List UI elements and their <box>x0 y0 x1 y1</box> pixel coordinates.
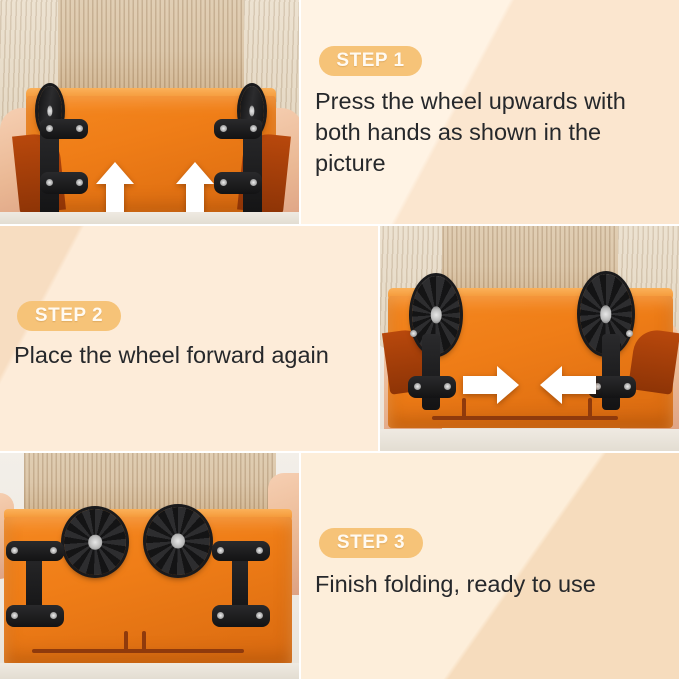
person-torso <box>56 0 246 98</box>
arrow-left-inward-icon <box>540 366 596 404</box>
screw-left-2 <box>50 547 57 554</box>
photo-floor <box>0 212 299 224</box>
step-3-photo <box>0 453 299 679</box>
step-2-photo <box>380 226 679 451</box>
arrow-right-inward-icon <box>463 366 519 404</box>
step-1-badge: STEP 1 <box>319 46 422 76</box>
screw-left-4 <box>76 179 83 186</box>
screw-left-3 <box>46 179 53 186</box>
wheel-left <box>64 509 126 575</box>
screw-right-1 <box>217 547 224 554</box>
instruction-infographic: STEP 1 Press the wheel upwards with both… <box>0 0 679 679</box>
panel-sheen <box>301 453 679 679</box>
screw-right-4 <box>256 612 263 619</box>
step-2-caption-panel: STEP 2 Place the wheel forward again <box>0 226 378 451</box>
screw-right-3 <box>220 179 227 186</box>
step-2-caption: Place the wheel forward again <box>14 340 370 371</box>
wheel-bracket-left <box>422 334 440 410</box>
step-3-badge: STEP 3 <box>319 528 423 558</box>
screw-right-3 <box>217 612 224 619</box>
screw-right-1 <box>220 125 227 132</box>
panel-sheen <box>0 226 378 451</box>
photo-floor <box>0 663 299 679</box>
photo-floor <box>380 429 679 451</box>
frame-hook-right <box>142 631 146 651</box>
screw-left-3 <box>11 612 18 619</box>
screw-right-2 <box>250 125 257 132</box>
screw-left-1 <box>410 330 417 337</box>
frame-rod-horizontal <box>32 649 244 653</box>
screw-right-4 <box>250 179 257 186</box>
screw-right-1 <box>626 330 633 337</box>
screw-right-3 <box>624 383 631 390</box>
screw-left-3 <box>444 383 451 390</box>
screw-right-2 <box>256 547 263 554</box>
screw-left-2 <box>414 383 421 390</box>
step-1-caption: Press the wheel upwards with both hands … <box>315 86 667 179</box>
step-2-badge: STEP 2 <box>17 301 121 331</box>
screw-left-1 <box>11 547 18 554</box>
step-3-caption: Finish folding, ready to use <box>315 569 667 600</box>
screw-left-1 <box>46 125 53 132</box>
step-3-caption-panel: STEP 3 Finish folding, ready to use <box>301 453 679 679</box>
screw-left-2 <box>76 125 83 132</box>
step-1-caption-panel: STEP 1 Press the wheel upwards with both… <box>301 0 679 224</box>
wheel-bracket-right <box>602 334 620 410</box>
person-torso <box>24 453 276 515</box>
wheel-right <box>146 507 210 575</box>
frame-hook-left <box>124 631 128 651</box>
screw-left-4 <box>50 612 57 619</box>
step-1-photo <box>0 0 299 224</box>
